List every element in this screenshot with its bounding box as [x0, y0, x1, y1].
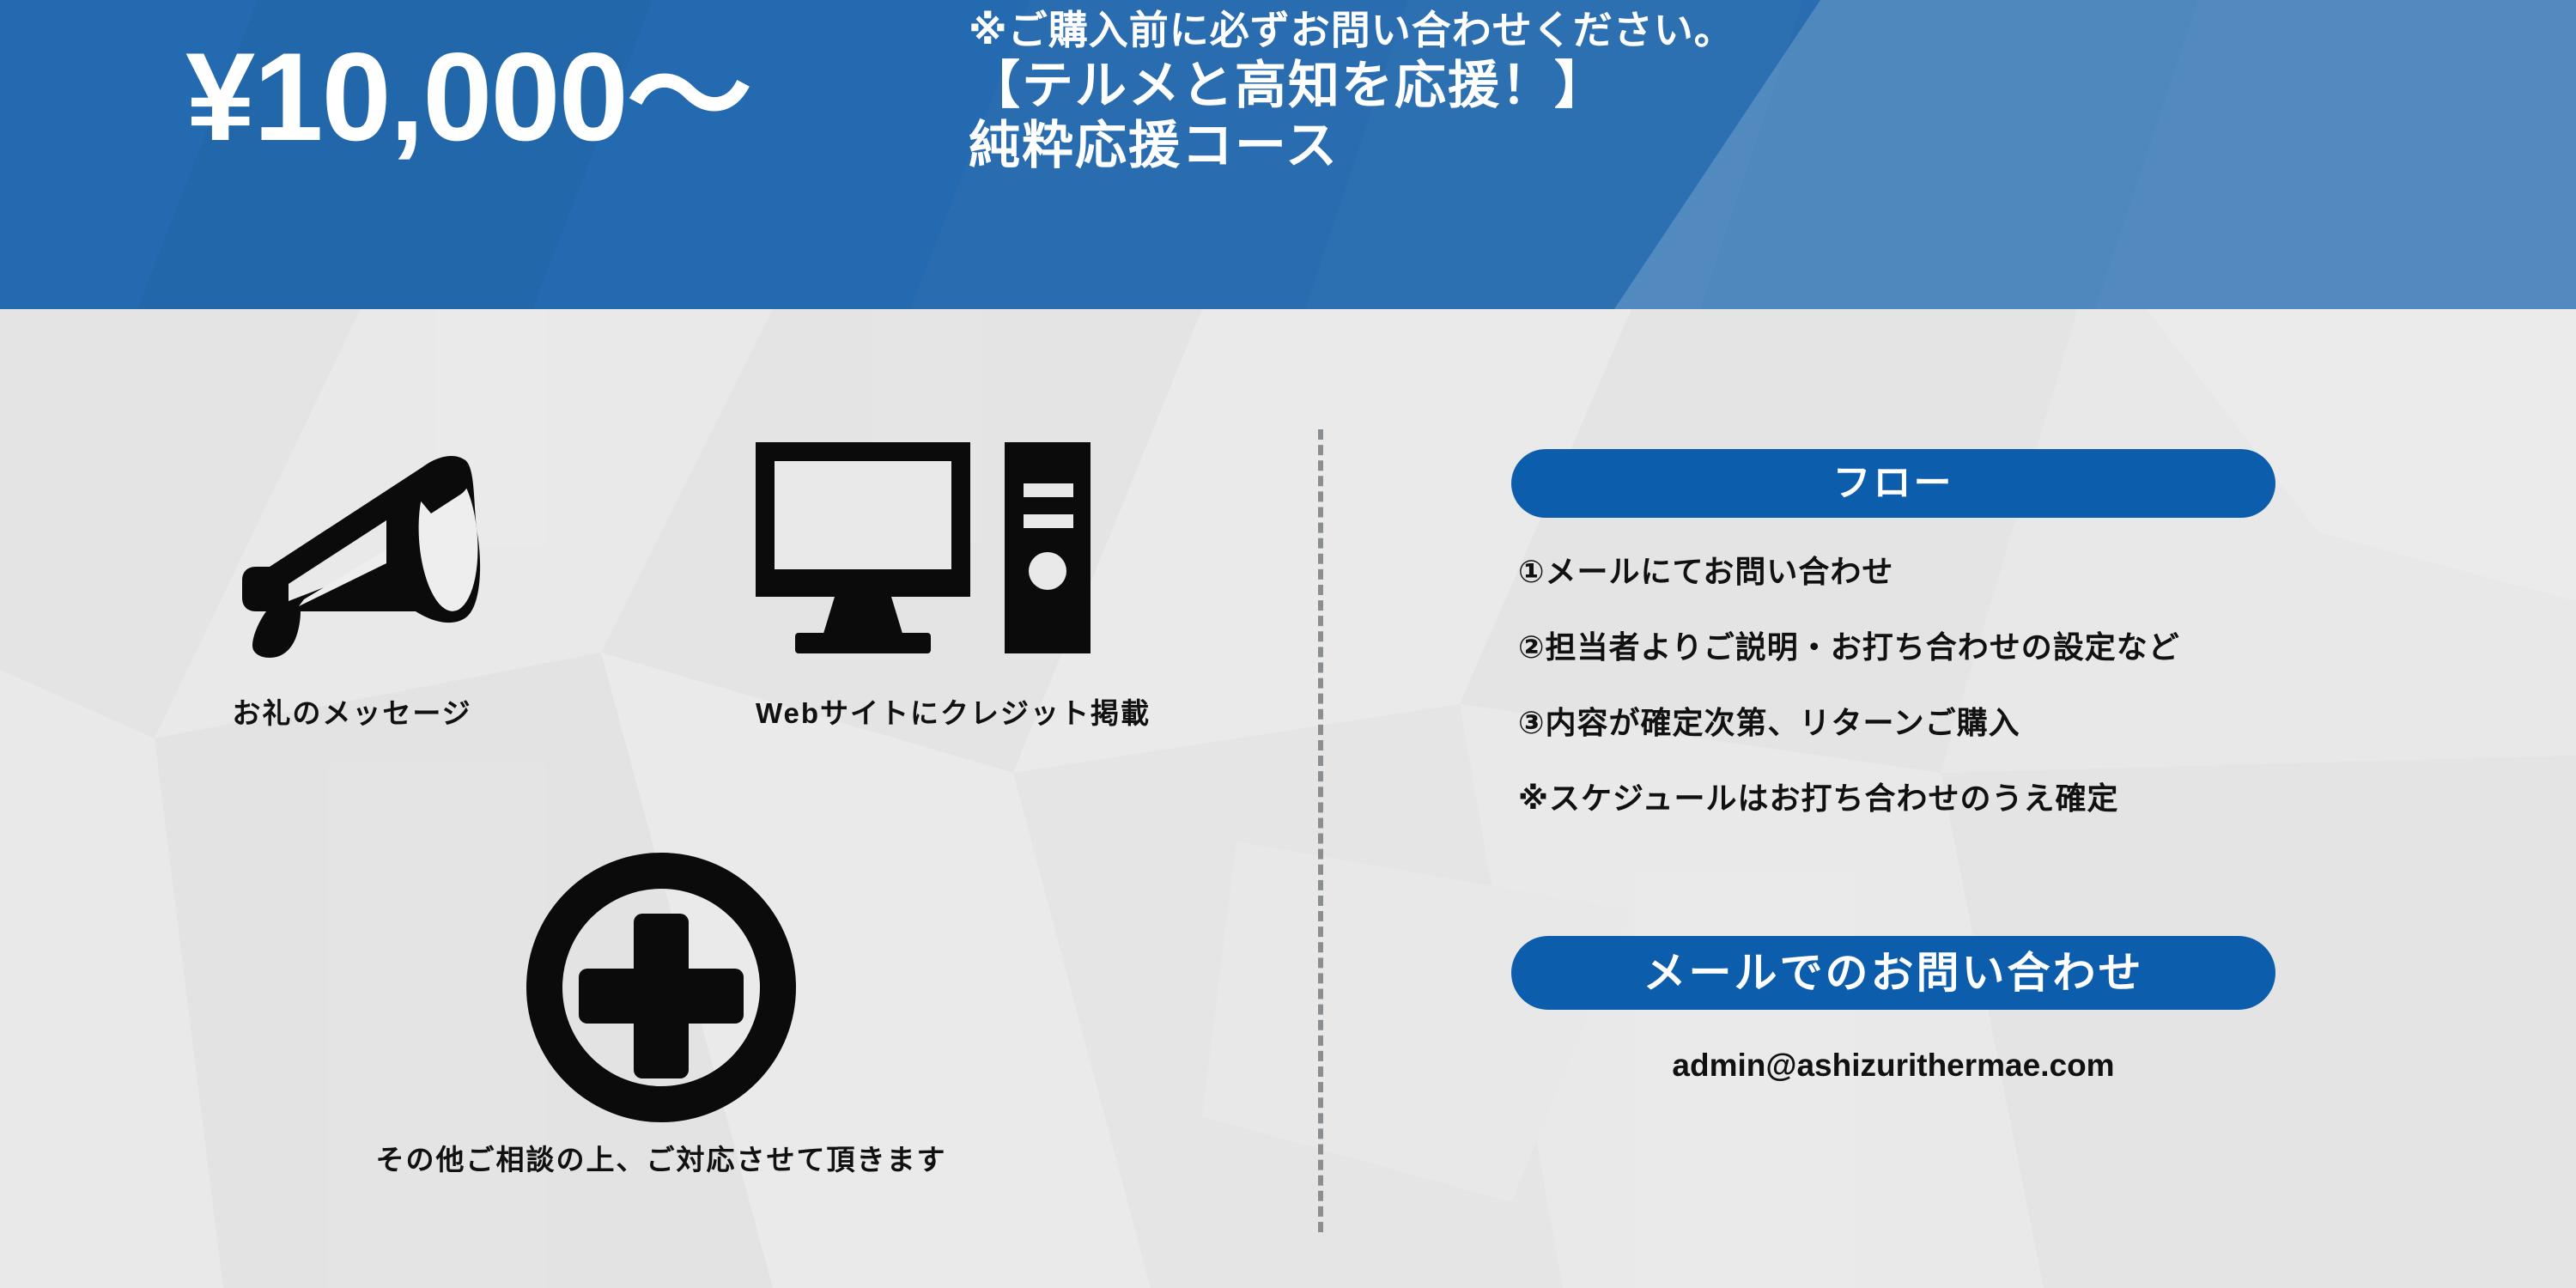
- flow-step-list: ①メールにてお問い合わせ ②担当者よりご説明・お打ち合わせの設定など ③内容が確…: [1518, 556, 2334, 859]
- email-address[interactable]: admin@ashizurithermae.com: [1511, 1048, 2275, 1084]
- flow-step-note: ※スケジュールはお打ち合わせのうえ確定: [1518, 783, 2334, 814]
- course-title-line-2: 純粋応援コース: [969, 116, 1735, 176]
- flow-step: ②担当者よりご説明・お打ち合わせの設定など: [1518, 632, 2334, 663]
- flow-heading-button[interactable]: フロー: [1511, 449, 2275, 518]
- rewards-column: お礼のメッセージ: [0, 309, 1318, 1288]
- banner-header: ¥10,000〜 ※ご購入前に必ずお問い合わせください。 【テルメと高知を応援！…: [0, 0, 2576, 309]
- reward-item-thank-you-message: お礼のメッセージ: [52, 421, 653, 732]
- desktop-computer-icon: [653, 421, 1254, 678]
- course-title-line-1: 【テルメと高知を応援！】: [969, 56, 1735, 116]
- megaphone-icon: [52, 421, 653, 678]
- reward-label: Webサイトにクレジット掲載: [653, 690, 1254, 732]
- plus-circle-icon: [172, 850, 1151, 1125]
- header-text-block: ※ご購入前に必ずお問い合わせください。 【テルメと高知を応援！】 純粋応援コース: [969, 7, 1735, 177]
- purchase-notice: ※ご購入前に必ずお問い合わせください。: [969, 7, 1735, 54]
- reward-item-website-credit: Webサイトにクレジット掲載: [653, 421, 1254, 732]
- reward-label: その他ご相談の上、ご対応させて頂きます: [172, 1137, 1151, 1178]
- flow-step: ③内容が確定次第、リターンご購入: [1518, 708, 2334, 738]
- price-amount: ¥10,000〜: [47, 34, 889, 160]
- flow-step: ①メールにてお問い合わせ: [1518, 556, 2334, 587]
- reward-item-other-consultation: その他ご相談の上、ご対応させて頂きます: [172, 850, 1151, 1178]
- campaign-banner: ¥10,000〜 ※ご購入前に必ずお問い合わせください。 【テルメと高知を応援！…: [0, 0, 2576, 1288]
- vertical-dashed-divider: [1318, 429, 1323, 1232]
- email-inquiry-button[interactable]: メールでのお問い合わせ: [1511, 936, 2275, 1010]
- reward-label: お礼のメッセージ: [52, 690, 653, 732]
